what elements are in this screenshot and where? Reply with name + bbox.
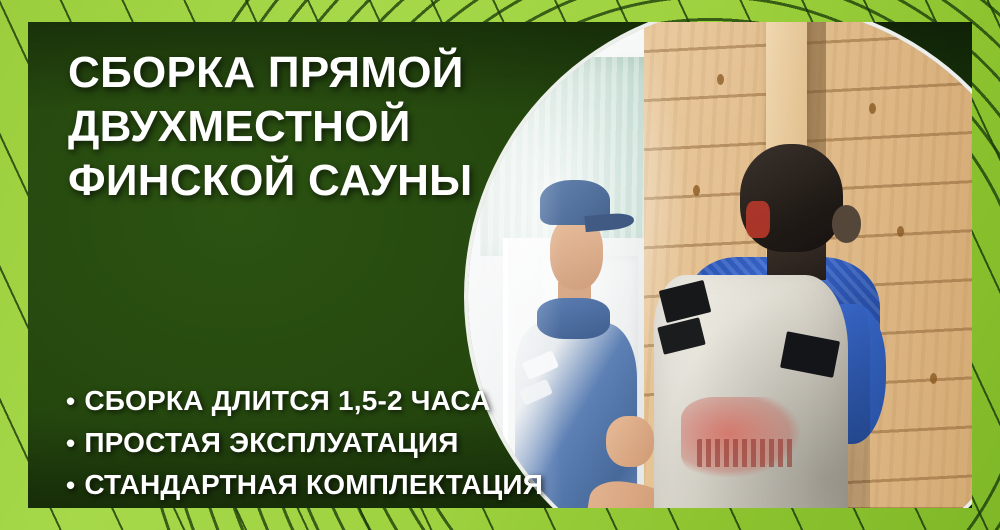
feature-list: • СБОРКА ДЛИТСЯ 1,5-2 ЧАСА • ПРОСТАЯ ЭКС… (66, 380, 606, 506)
list-item: • СТАНДАРТНАЯ КОМПЛЕКТАЦИЯ (66, 464, 606, 506)
headline-line-3: ФИНСКОЙ САУНЫ (68, 154, 498, 208)
list-item-label: ПРОСТАЯ ЭКСПЛУАТАЦИЯ (84, 422, 458, 463)
headline-line-1: СБОРКА ПРЯМОЙ (68, 46, 498, 100)
promo-poster: СБОРКА ПРЯМОЙ ДВУХМЕСТНОЙ ФИНСКОЙ САУНЫ … (0, 0, 1000, 530)
list-item-label: СБОРКА ДЛИТСЯ 1,5-2 ЧАСА (84, 380, 490, 421)
list-item: • ПРОСТАЯ ЭКСПЛУАТАЦИЯ (66, 422, 606, 464)
list-item: • СБОРКА ДЛИТСЯ 1,5-2 ЧАСА (66, 380, 606, 422)
headline: СБОРКА ПРЯМОЙ ДВУХМЕСТНОЙ ФИНСКОЙ САУНЫ (68, 46, 498, 208)
list-item-label: СТАНДАРТНАЯ КОМПЛЕКТАЦИЯ (84, 464, 543, 505)
headline-line-2: ДВУХМЕСТНОЙ (68, 100, 498, 154)
content-panel: СБОРКА ПРЯМОЙ ДВУХМЕСТНОЙ ФИНСКОЙ САУНЫ … (28, 22, 972, 508)
bullet-dot-icon: • (66, 465, 75, 506)
bullet-dot-icon: • (66, 423, 75, 464)
bullet-dot-icon: • (66, 381, 75, 422)
